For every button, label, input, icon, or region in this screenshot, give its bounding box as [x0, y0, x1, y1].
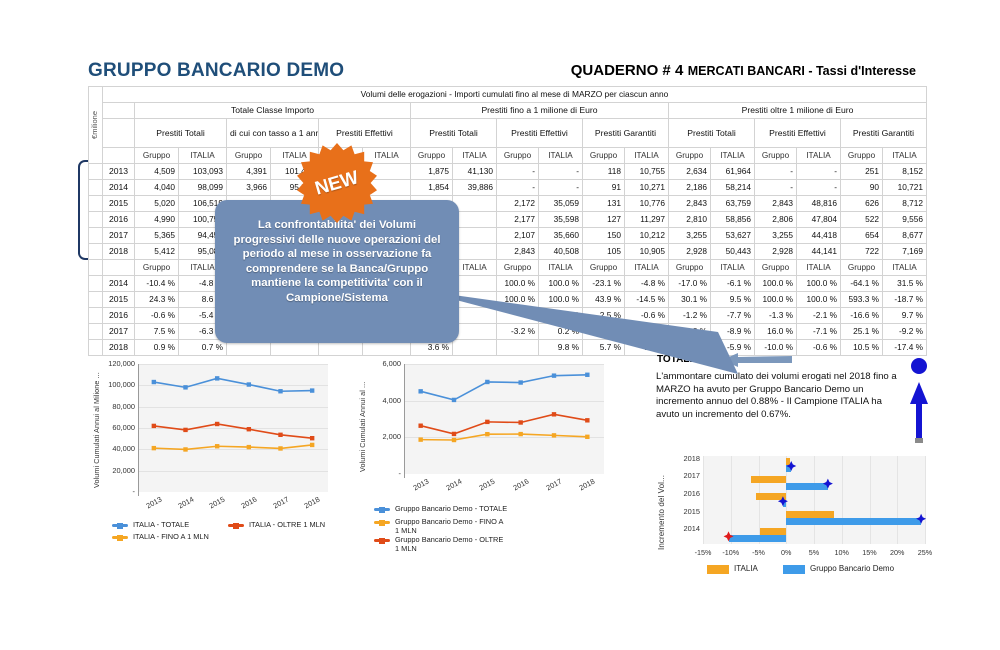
- callout-tail: [418, 288, 738, 378]
- y-axis-tick: -: [99, 487, 135, 496]
- table-cell: 10.5 %: [841, 340, 883, 356]
- subheader-7: Prestiti Effettivi: [755, 119, 841, 148]
- row-year-label: 2014: [103, 276, 135, 292]
- legend-marker: [233, 523, 239, 529]
- row-year-label: 2016: [103, 308, 135, 324]
- legend-label: ITALIA - OLTRE 1 MLN: [249, 520, 325, 529]
- table-cell: -2.1 %: [797, 308, 841, 324]
- gridline: [138, 449, 328, 450]
- subheader-6: Prestiti Totali: [669, 119, 755, 148]
- row-spacer: [89, 276, 103, 292]
- col-header-gruppo: Gruppo: [841, 148, 883, 164]
- page-title: GRUPPO BANCARIO DEMO: [88, 60, 344, 82]
- col-header-gruppo: Gruppo: [227, 148, 271, 164]
- table-cell: 100.0 %: [755, 276, 797, 292]
- col-header-gruppo: Gruppo: [669, 148, 711, 164]
- col-header-gruppo: Gruppo: [841, 260, 883, 276]
- gridline: [138, 471, 328, 472]
- table-cell: 35,059: [539, 196, 583, 212]
- table-cell: 0.9 %: [135, 340, 179, 356]
- table-cell: 35,660: [539, 228, 583, 244]
- table-cell: 722: [841, 244, 883, 260]
- y-axis-tick: 2,000: [369, 432, 401, 441]
- quaderno-label: QUADERNO # 4: [571, 62, 684, 79]
- col-header-gruppo: Gruppo: [755, 148, 797, 164]
- table-cell: 58,856: [711, 212, 755, 228]
- table-cell: -16.6 %: [841, 308, 883, 324]
- table-cell: 100.0 %: [797, 292, 841, 308]
- chart-incremento-bars: Incremento del Vol...-15%-10%-5%0%5%10%1…: [655, 450, 945, 590]
- table-cell: -1.3 %: [755, 308, 797, 324]
- col-header-gruppo: Gruppo: [497, 260, 539, 276]
- table-cell: 35,598: [539, 212, 583, 228]
- legend-label: ITALIA - TOTALE: [133, 520, 189, 529]
- row-year-label: 2017: [103, 324, 135, 340]
- gridline: [404, 401, 604, 402]
- table-cell: 131: [583, 196, 625, 212]
- table-cell: -: [797, 180, 841, 196]
- legend-marker: [379, 520, 385, 526]
- slide-canvas: GRUPPO BANCARIO DEMO QUADERNO # 4 MERCAT…: [0, 0, 1000, 650]
- table-cell: 100.0 %: [797, 276, 841, 292]
- legend-label: Gruppo Bancario Demo - OLTRE 1 MLN: [395, 535, 505, 553]
- table-cell: 522: [841, 212, 883, 228]
- table-cell: 8,712: [883, 196, 927, 212]
- table-cell: -0.6 %: [797, 340, 841, 356]
- gridline: [138, 385, 328, 386]
- y-axis-tick: 20,000: [99, 466, 135, 475]
- table-cell: 105: [583, 244, 625, 260]
- table-sub-header-row: Prestiti Totali di cui con tasso a 1 ann…: [89, 119, 927, 148]
- table-cell: 44,141: [797, 244, 841, 260]
- table-cell: 91: [583, 180, 625, 196]
- y-axis-line: [138, 364, 139, 496]
- table-cell: 7,169: [883, 244, 927, 260]
- row-spacer: [89, 180, 103, 196]
- table-cell: -17.4 %: [883, 340, 927, 356]
- legend-label: ITALIA: [734, 564, 758, 573]
- table-cell: 5,020: [135, 196, 179, 212]
- table-cell: -9.2 %: [883, 324, 927, 340]
- row-year-label: 2018: [103, 340, 135, 356]
- table-cell: 24.3 %: [135, 292, 179, 308]
- table-cell: [453, 212, 497, 228]
- row-spacer: [89, 324, 103, 340]
- table-supertitle-row: €milione Volumi delle erogazioni - Impor…: [89, 87, 927, 103]
- gridline: [138, 428, 328, 429]
- subheader-1: di cui con tasso a 1 anno: [227, 119, 319, 148]
- unit-label: €milione: [89, 111, 100, 139]
- table-cell: 11,297: [625, 212, 669, 228]
- row-year-label: 2017: [103, 228, 135, 244]
- col-header-gruppo: Gruppo: [411, 148, 453, 164]
- row-year-label: 2016: [103, 212, 135, 228]
- x-axis-tick: 2018: [574, 474, 601, 494]
- table-cell: 2,177: [497, 212, 539, 228]
- table-cell: 10,212: [625, 228, 669, 244]
- table-cell: 10,776: [625, 196, 669, 212]
- col-header-italia: ITALIA: [883, 260, 927, 276]
- col-header-italia: ITALIA: [625, 148, 669, 164]
- row-spacer: [89, 196, 103, 212]
- table-cell: 1,875: [411, 164, 453, 180]
- table-cell: 2,172: [497, 196, 539, 212]
- table-cell: 98,099: [179, 180, 227, 196]
- up-arrow-icon: [908, 382, 930, 444]
- table-cell: 100.0 %: [755, 292, 797, 308]
- row-year-label: 2015: [103, 292, 135, 308]
- table-cell: -64.1 %: [841, 276, 883, 292]
- legend-marker: [379, 538, 385, 544]
- col-header-gruppo: Gruppo: [755, 260, 797, 276]
- col-header-gruppo: Gruppo: [583, 260, 625, 276]
- col-header-gruppo: Gruppo: [135, 148, 179, 164]
- table-cell: -: [539, 164, 583, 180]
- x-axis-tick: 2014: [172, 492, 199, 512]
- row-year-label: 2018: [103, 244, 135, 260]
- report-header: QUADERNO # 4 MERCATI BANCARI - Tassi d'I…: [571, 62, 916, 80]
- row-spacer: [89, 228, 103, 244]
- table-cell: 16.0 %: [755, 324, 797, 340]
- col-header-italia: ITALIA: [453, 148, 497, 164]
- table-cell: -: [797, 164, 841, 180]
- row-year-label: 2014: [103, 180, 135, 196]
- row-spacer: [89, 292, 103, 308]
- blue-dot-marker-icon: [911, 358, 927, 374]
- table-cell: 40,508: [539, 244, 583, 260]
- subheader-4: Prestiti Effettivi: [497, 119, 583, 148]
- y-axis-tick: 100,000: [99, 380, 135, 389]
- report-subtitle: MERCATI BANCARI - Tassi d'Interesse: [688, 64, 916, 78]
- y-axis-tick: 120,000: [99, 359, 135, 368]
- table-cell: 10,721: [883, 180, 927, 196]
- table-cell: -7.1 %: [797, 324, 841, 340]
- annotation-body: L'ammontare cumulato dei volumi erogati …: [656, 371, 908, 421]
- table-cell: 10,905: [625, 244, 669, 260]
- table-cell: -: [755, 180, 797, 196]
- legend-label: ITALIA - FINO A 1 MLN: [133, 532, 209, 541]
- table-cell: -10.4 %: [135, 276, 179, 292]
- table-cell: 2,928: [669, 244, 711, 260]
- table-cell: 654: [841, 228, 883, 244]
- table-cell: 8,677: [883, 228, 927, 244]
- col-header-italia: ITALIA: [797, 260, 841, 276]
- table-cell: 58,214: [711, 180, 755, 196]
- table-cell: 0.7 %: [179, 340, 227, 356]
- group-header-oltre1mln: Prestiti oltre 1 milione di Euro: [669, 103, 927, 119]
- subheader-5: Prestiti Garantiti: [583, 119, 669, 148]
- col-header-italia: ITALIA: [711, 148, 755, 164]
- table-cell: 150: [583, 228, 625, 244]
- table-cell: 5,365: [135, 228, 179, 244]
- y-axis-tick: 6,000: [369, 359, 401, 368]
- table-cell: 8,152: [883, 164, 927, 180]
- row-spacer: [89, 308, 103, 324]
- new-badge-label: NEW: [296, 162, 379, 205]
- col-header-gruppo: Gruppo: [497, 148, 539, 164]
- table-cell: -: [539, 180, 583, 196]
- table-cell: [453, 228, 497, 244]
- y-axis-tick: 80,000: [99, 402, 135, 411]
- legend-label: Gruppo Bancario Demo - FINO A 1 MLN: [395, 517, 505, 535]
- col-header-gruppo: Gruppo: [583, 148, 625, 164]
- row-spacer: [89, 164, 103, 180]
- group-header-fino1mln: Prestiti fino a 1 milione di Euro: [411, 103, 669, 119]
- table-cell: 47,804: [797, 212, 841, 228]
- col-header-italia: ITALIA: [539, 148, 583, 164]
- table-cell: -: [755, 164, 797, 180]
- table-cell: 251: [841, 164, 883, 180]
- table-cell: 3,255: [669, 228, 711, 244]
- table-cell: 2,843: [669, 196, 711, 212]
- col-header-italia: ITALIA: [179, 148, 227, 164]
- table-row: 20144,04098,0993,96695,8621,85439,886--9…: [89, 180, 927, 196]
- subheader-8: Prestiti Garantiti: [841, 119, 927, 148]
- table-cell: 5,412: [135, 244, 179, 260]
- table-cell: 2,928: [755, 244, 797, 260]
- y-axis-tick: 4,000: [369, 396, 401, 405]
- col-header-gruppo: Gruppo: [669, 260, 711, 276]
- table-cell: 7.5 %: [135, 324, 179, 340]
- col-header-italia: ITALIA: [539, 260, 583, 276]
- x-axis-tick: 2018: [299, 492, 326, 512]
- legend-marker: [117, 523, 123, 529]
- table-cell: 48,816: [797, 196, 841, 212]
- x-axis-tick: 2016: [507, 474, 534, 494]
- x-axis-tick: 2016: [235, 492, 262, 512]
- col-header-italia: ITALIA: [797, 148, 841, 164]
- y-axis-tick: 40,000: [99, 444, 135, 453]
- table-cell: 9,556: [883, 212, 927, 228]
- row-spacer: [89, 212, 103, 228]
- table-row: 20134,509103,0934,391101,4911,87541,130-…: [89, 164, 927, 180]
- table-cell: -18.7 %: [883, 292, 927, 308]
- legend-swatch: [783, 565, 805, 574]
- subheader-3: Prestiti Totali: [411, 119, 497, 148]
- table-cell: 626: [841, 196, 883, 212]
- table-cell: 4,040: [135, 180, 179, 196]
- table-cell: 2,843: [497, 244, 539, 260]
- x-axis-tick: 2014: [440, 474, 467, 494]
- legend-marker: [117, 535, 123, 541]
- table-cell: 31.5 %: [883, 276, 927, 292]
- legend-swatch: [707, 565, 729, 574]
- chart-gruppo-lines: Volumi Cumulati Annui al ...-2,0004,0006…: [352, 356, 627, 556]
- row-spacer: [89, 244, 103, 260]
- row-year-label: 2013: [103, 164, 135, 180]
- y-axis-line: [404, 364, 405, 478]
- legend-marker: [379, 507, 385, 513]
- col-header-italia: ITALIA: [363, 148, 411, 164]
- legend-label: Gruppo Bancario Demo - TOTALE: [395, 504, 507, 513]
- table-cell: 103,093: [179, 164, 227, 180]
- table-cell: 61,964: [711, 164, 755, 180]
- table-column-header-row: GruppoITALIAGruppoITALIAGruppoITALIAGrup…: [89, 148, 927, 164]
- table-group-header-row: Totale Classe Importo Prestiti fino a 1 …: [89, 103, 927, 119]
- table-cell: 53,627: [711, 228, 755, 244]
- table-cell: 3,966: [227, 180, 271, 196]
- table-cell: [453, 244, 497, 260]
- gridline: [138, 407, 328, 408]
- table-cell: 10,271: [625, 180, 669, 196]
- table-super-title: Volumi delle erogazioni - Importi cumula…: [103, 87, 927, 103]
- table-cell: 2,107: [497, 228, 539, 244]
- row-year-label: 2015: [103, 196, 135, 212]
- y-axis-tick: -: [369, 469, 401, 478]
- table-cell: 4,990: [135, 212, 179, 228]
- table-cell: -: [497, 164, 539, 180]
- table-cell: 63,759: [711, 196, 755, 212]
- x-axis-tick: 2013: [140, 492, 167, 512]
- table-cell: 25.1 %: [841, 324, 883, 340]
- x-axis-tick: 2013: [407, 474, 434, 494]
- table-cell: 50,443: [711, 244, 755, 260]
- table-cell: 10,755: [625, 164, 669, 180]
- gridline: [404, 437, 604, 438]
- table-cell: 9.7 %: [883, 308, 927, 324]
- table-cell: 2,806: [755, 212, 797, 228]
- table-cell: -0.6 %: [135, 308, 179, 324]
- table-cell: 1,854: [411, 180, 453, 196]
- plot-background: [404, 364, 604, 474]
- x-axis-tick: 2017: [540, 474, 567, 494]
- x-axis-tick: 2017: [267, 492, 294, 512]
- gridline: [138, 364, 328, 365]
- legend-label: Gruppo Bancario Demo: [810, 564, 894, 573]
- table-cell: 2,634: [669, 164, 711, 180]
- x-axis-tick: 2015: [474, 474, 501, 494]
- col-header-italia: ITALIA: [711, 260, 755, 276]
- col-header-italia: ITALIA: [453, 260, 497, 276]
- y-axis-label: Volumi Cumulati Annui al ...: [358, 368, 367, 472]
- table-cell: 2,843: [755, 196, 797, 212]
- table-cell: 593.3 %: [841, 292, 883, 308]
- col-header-italia: ITALIA: [625, 260, 669, 276]
- table-cell: 39,886: [453, 180, 497, 196]
- table-cell: 4,509: [135, 164, 179, 180]
- subheader-0: Prestiti Totali: [135, 119, 227, 148]
- table-cell: 44,418: [797, 228, 841, 244]
- subheader-2: Prestiti Effettivi: [319, 119, 411, 148]
- x-axis-tick: 2015: [204, 492, 231, 512]
- table-cell: 41,130: [453, 164, 497, 180]
- col-header-italia: ITALIA: [883, 148, 927, 164]
- chart-italia-lines: Volumi Cumulati Annui al Milione ...-20,…: [88, 356, 348, 546]
- row-spacer: [89, 340, 103, 356]
- table-cell: [453, 196, 497, 212]
- table-cell: -: [497, 180, 539, 196]
- group-header-totale: Totale Classe Importo: [135, 103, 411, 119]
- table-cell: 4,391: [227, 164, 271, 180]
- table-cell: 3,255: [755, 228, 797, 244]
- col-header-gruppo: Gruppo: [135, 260, 179, 276]
- table-cell: 118: [583, 164, 625, 180]
- table-cell: 127: [583, 212, 625, 228]
- table-cell: 90: [841, 180, 883, 196]
- table-cell: 2,186: [669, 180, 711, 196]
- y-axis-tick: 60,000: [99, 423, 135, 432]
- table-cell: 2,810: [669, 212, 711, 228]
